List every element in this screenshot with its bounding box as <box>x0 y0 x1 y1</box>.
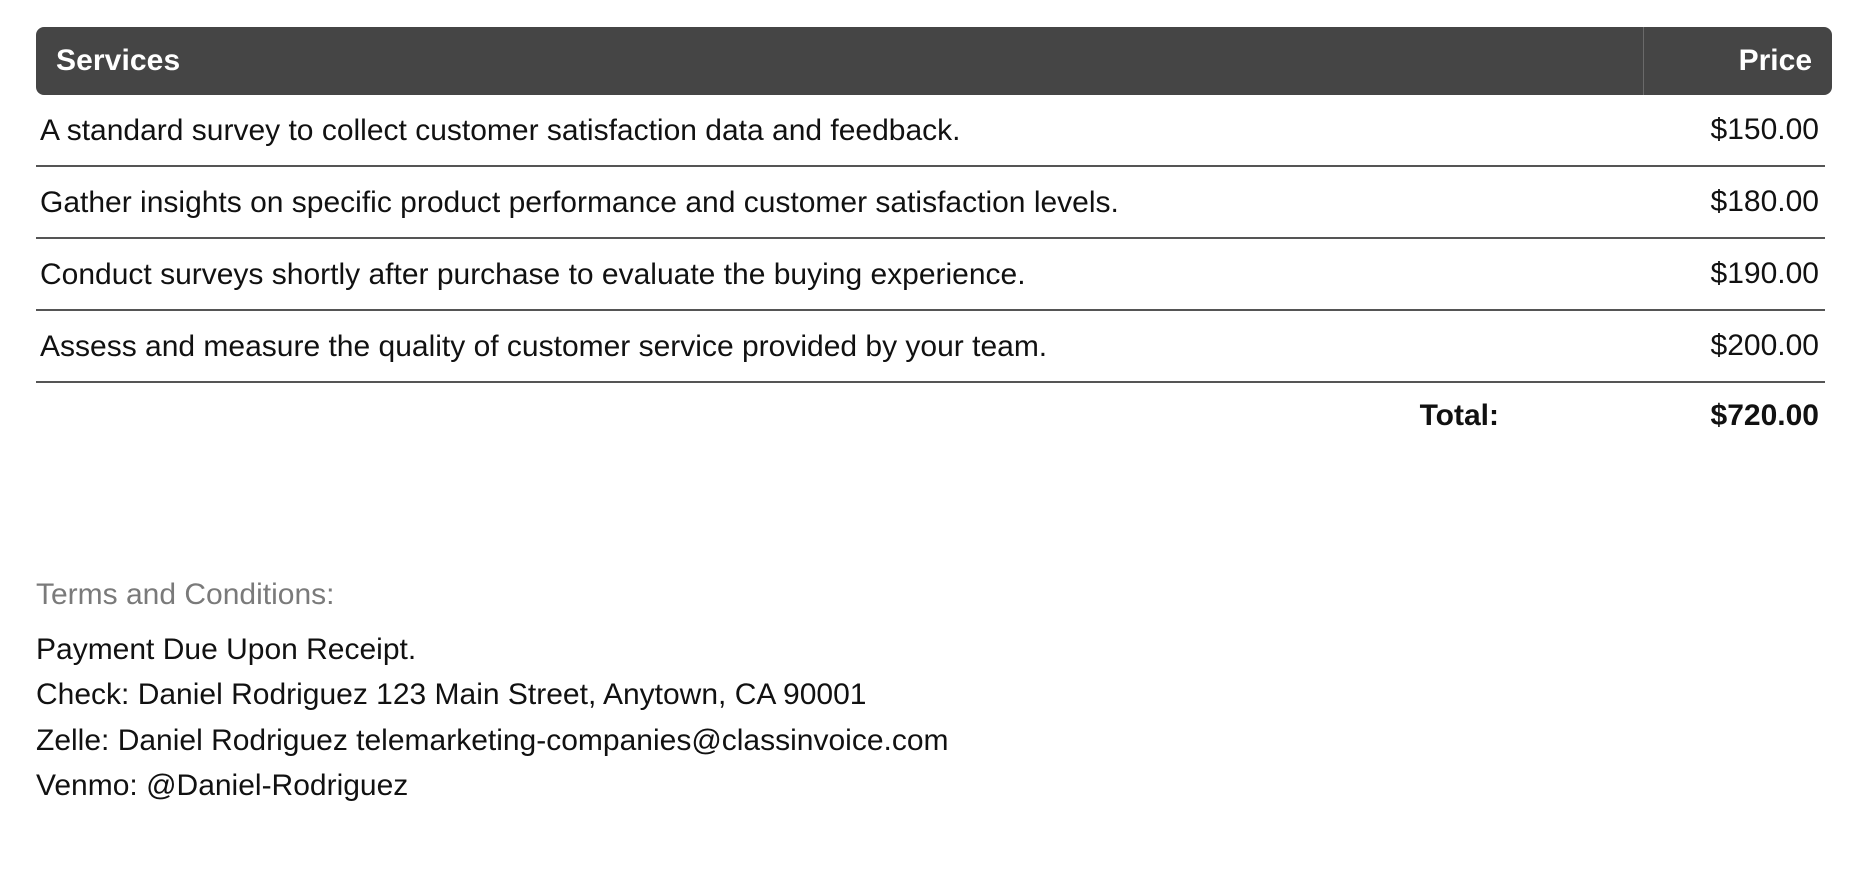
service-description: Gather insights on specific product perf… <box>36 186 1595 219</box>
total-label: Total: <box>1420 399 1595 433</box>
service-price: $190.00 <box>1595 257 1825 291</box>
service-description: A standard survey to collect customer sa… <box>36 114 1595 147</box>
terms-line-check: Check: Daniel Rodriguez 123 Main Street,… <box>36 672 1736 718</box>
service-price: $150.00 <box>1595 113 1825 147</box>
service-price: $200.00 <box>1595 329 1825 363</box>
terms-line-payment-due: Payment Due Upon Receipt. <box>36 627 1736 673</box>
column-header-services: Services <box>36 27 1644 95</box>
table-row: Conduct surveys shortly after purchase t… <box>36 239 1825 311</box>
terms-and-conditions-section: Terms and Conditions: Payment Due Upon R… <box>36 578 1736 809</box>
column-header-price: Price <box>1644 27 1832 95</box>
total-row: Total: $720.00 <box>36 383 1825 449</box>
service-price: $180.00 <box>1595 185 1825 219</box>
terms-line-venmo: Venmo: @Daniel-Rodriguez <box>36 763 1736 809</box>
total-value: $720.00 <box>1595 399 1825 433</box>
terms-heading: Terms and Conditions: <box>36 578 1736 613</box>
service-description: Conduct surveys shortly after purchase t… <box>36 258 1595 291</box>
table-row: Gather insights on specific product perf… <box>36 167 1825 239</box>
invoice-page: Services Price A standard survey to coll… <box>0 0 1868 870</box>
table-row: A standard survey to collect customer sa… <box>36 95 1825 167</box>
services-price-table: Services Price A standard survey to coll… <box>36 27 1832 449</box>
table-body: A standard survey to collect customer sa… <box>36 95 1825 449</box>
terms-line-zelle: Zelle: Daniel Rodriguez telemarketing-co… <box>36 718 1736 764</box>
service-description: Assess and measure the quality of custom… <box>36 330 1595 363</box>
table-header-row: Services Price <box>36 27 1832 95</box>
table-row: Assess and measure the quality of custom… <box>36 311 1825 383</box>
